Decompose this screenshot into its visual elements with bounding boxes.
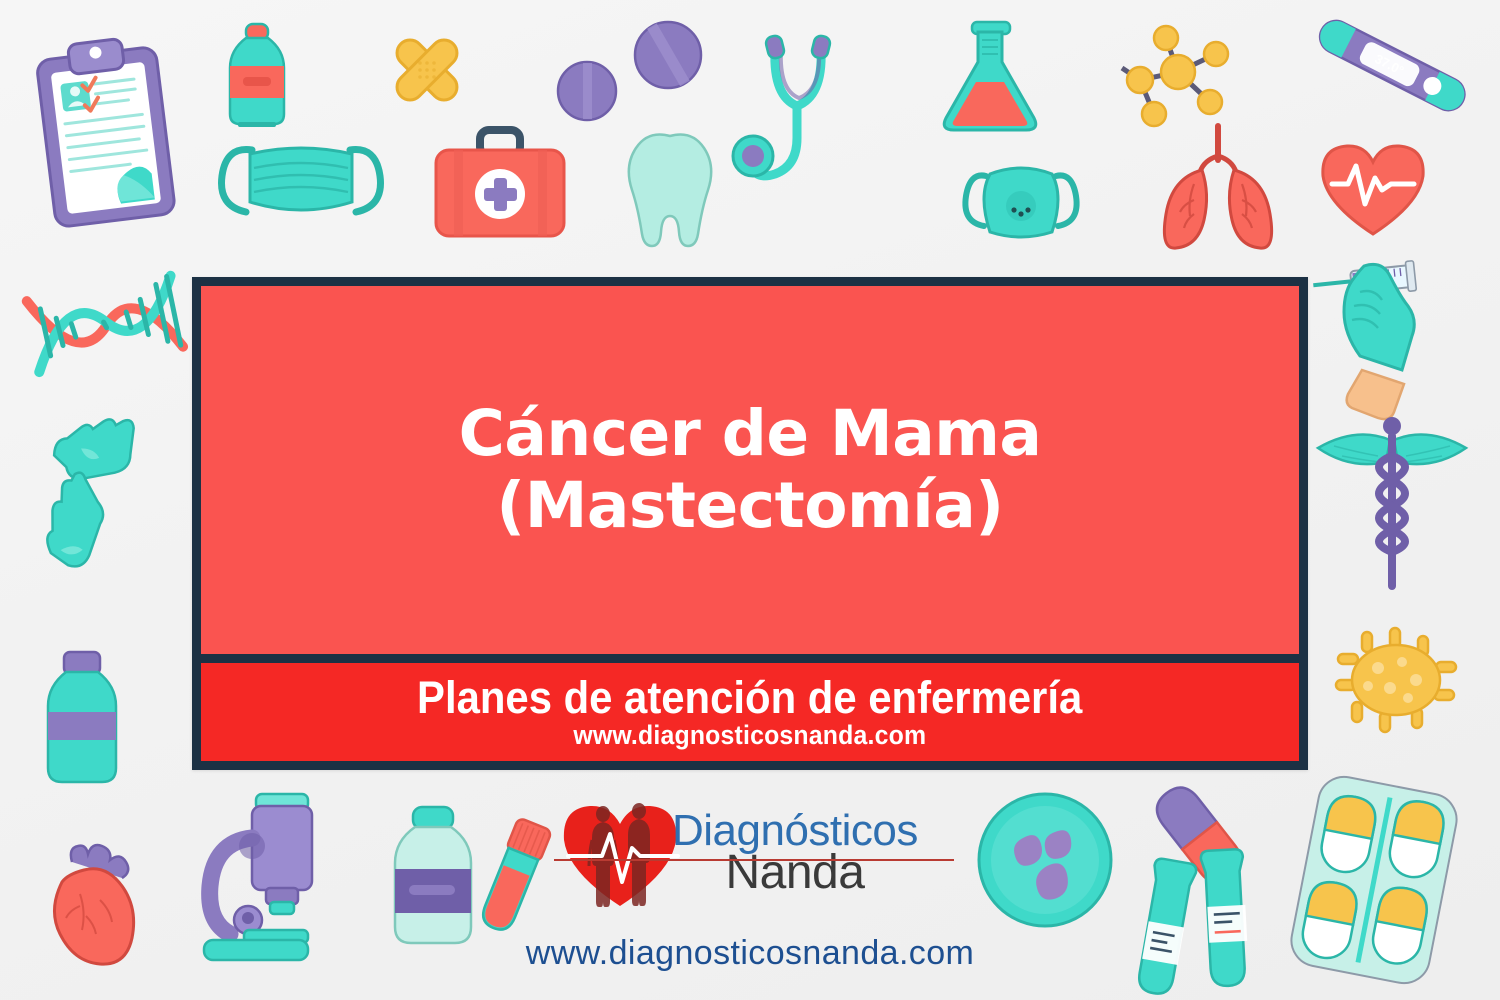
card-divider [201, 654, 1299, 663]
footer-url[interactable]: www.diagnosticosnanda.com [0, 934, 1500, 973]
logo-rule [554, 859, 954, 861]
virus-icon [1338, 628, 1454, 730]
glove-lower-icon [38, 496, 123, 589]
glove-upper-icon [42, 408, 145, 501]
molecule-icon [1120, 18, 1238, 128]
subtitle-panel: Planes de atención de enfermería www.dia… [201, 663, 1299, 761]
adhesive-bandages-icon [382, 25, 472, 115]
pill-tablet-small-icon [556, 60, 618, 122]
surgical-mask-icon [210, 138, 392, 230]
page-title: Cáncer de Mama (Mastectomía) [439, 398, 1062, 542]
petri-dish-icon [975, 790, 1115, 930]
bottle-purple-band-icon [40, 650, 124, 785]
thermometer-icon: 37.0° [1305, 15, 1475, 125]
card-subtitle: Planes de atención de enfermería [417, 675, 1082, 720]
caduceus-icon [1312, 418, 1472, 593]
heart-ekg-icon [1318, 140, 1428, 240]
card-url: www.diagnosticosnanda.com [574, 722, 927, 749]
logo-word-nanda: Nanda [672, 849, 918, 898]
vaccine-vial-icon [385, 805, 481, 950]
first-aid-kit-icon [430, 128, 570, 240]
lungs-icon [1158, 122, 1278, 252]
tooth-icon [620, 130, 720, 248]
dna-helix-icon [14, 258, 195, 390]
erlenmeyer-flask-icon [940, 20, 1040, 135]
syringe-gloved-hand-icon [1308, 248, 1458, 408]
test-tubes-icon [1128, 855, 1199, 999]
blood-sample-tube-icon [470, 813, 559, 940]
stethoscope-icon [745, 28, 875, 203]
respirator-mask-icon [960, 162, 1082, 244]
clipboard-chart-icon [29, 28, 181, 232]
title-panel: Cáncer de Mama (Mastectomía) [201, 286, 1299, 654]
poster-canvas: 37.0° [0, 0, 1500, 1000]
brand-logo[interactable]: Diagnósticos Nanda [560, 790, 950, 915]
medicine-bottle-icon [222, 22, 292, 132]
pill-tablet-large-icon [633, 20, 703, 90]
heart-figures-icon [560, 794, 680, 912]
title-card: Cáncer de Mama (Mastectomía) Planes de a… [192, 277, 1308, 770]
